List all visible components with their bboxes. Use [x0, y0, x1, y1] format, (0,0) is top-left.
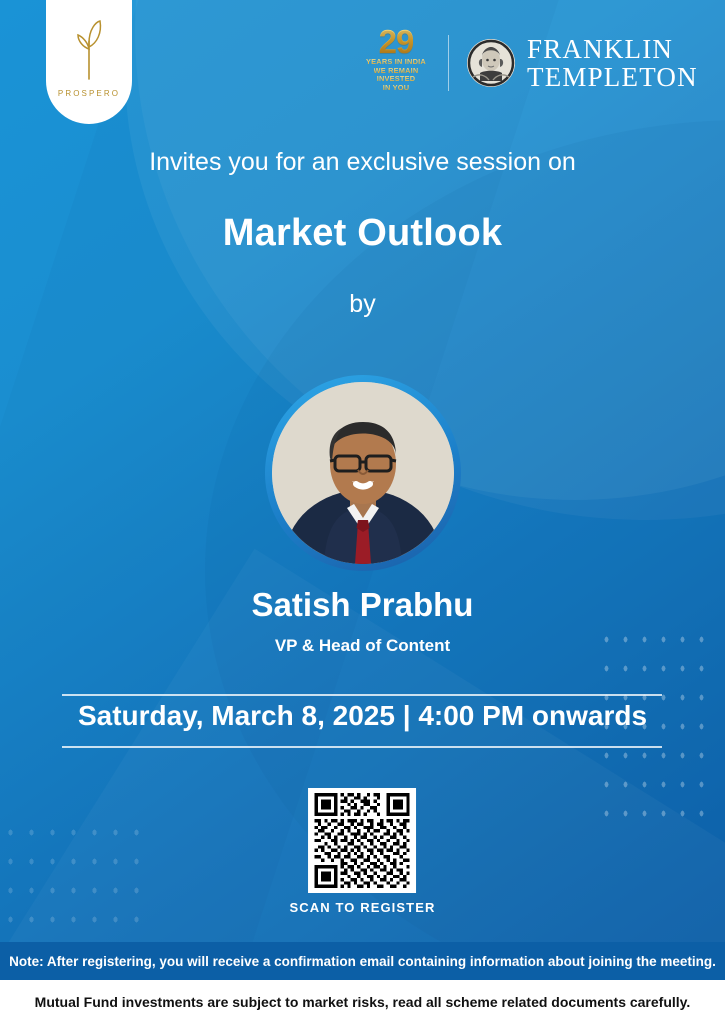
- disclaimer-text: Mutual Fund investments are subject to m…: [35, 994, 691, 1010]
- leaf-sprout-icon: [69, 19, 109, 81]
- by-label: by: [0, 290, 725, 319]
- prospero-wordmark: PROSPERO: [58, 89, 120, 98]
- speaker-name: Satish Prabhu: [0, 586, 725, 624]
- anniversary-badge: 29 YEARS IN INDIA WE REMAIN INVESTED IN …: [358, 27, 434, 99]
- scan-to-register-label: SCAN TO REGISTER: [290, 900, 436, 915]
- registration-qr-code[interactable]: [309, 788, 417, 893]
- schedule-rule-bottom: [62, 746, 662, 748]
- schedule-rule-top: [62, 694, 662, 696]
- schedule-line: Saturday, March 8, 2025 | 4:00 PM onward…: [0, 700, 725, 732]
- registration-block[interactable]: SCAN TO REGISTER: [290, 788, 436, 915]
- speaker-portrait: [272, 382, 454, 564]
- event-title: Market Outlook: [0, 212, 725, 255]
- note-text: Note: After registering, you will receiv…: [9, 954, 716, 969]
- franklin-templeton-lockup: 29 YEARS IN INDIA WE REMAIN INVESTED IN …: [358, 26, 698, 100]
- anniversary-line-1: YEARS IN INDIA: [366, 58, 426, 65]
- invite-line: Invites you for an exclusive session on: [0, 148, 725, 177]
- dot-grid-left: [0, 818, 140, 948]
- anniversary-line-2: WE REMAIN: [374, 67, 419, 74]
- anniversary-line-3: INVESTED: [377, 75, 416, 82]
- benjamin-franklin-portrait-icon: [467, 39, 515, 87]
- anniversary-tagline: YEARS IN INDIA WE REMAIN INVESTED IN YOU: [366, 58, 426, 91]
- logo-divider: [448, 35, 449, 91]
- event-invitation-poster: PROSPERO 29 YEARS IN INDIA WE REMAIN INV…: [0, 0, 725, 1024]
- prospero-logo: PROSPERO: [46, 0, 132, 124]
- note-band: Note: After registering, you will receiv…: [0, 942, 725, 980]
- anniversary-number: 29: [379, 27, 414, 57]
- ft-name-line-1: FRANKLIN: [527, 35, 698, 63]
- ft-name-line-2: TEMPLETON: [527, 63, 698, 91]
- disclaimer-band: Mutual Fund investments are subject to m…: [0, 980, 725, 1024]
- anniversary-line-4: IN YOU: [383, 84, 410, 91]
- speaker-role: VP & Head of Content: [0, 636, 725, 656]
- franklin-templeton-wordmark: FRANKLIN TEMPLETON: [527, 35, 698, 91]
- speaker-photo-frame: [265, 375, 461, 571]
